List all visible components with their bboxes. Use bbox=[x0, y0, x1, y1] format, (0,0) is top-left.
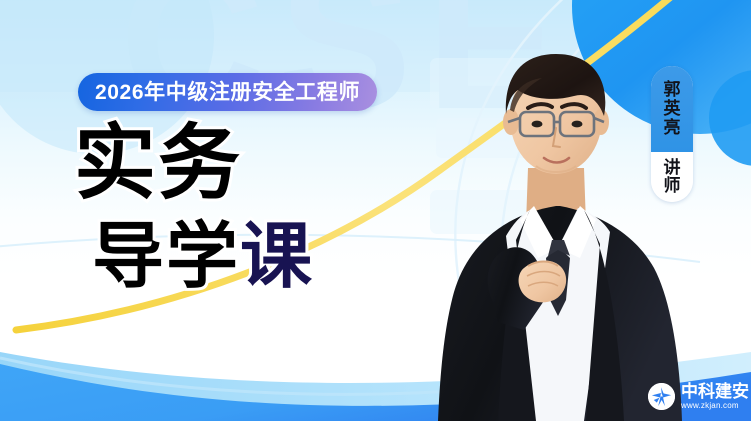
instructor-badge: 郭 英 亮 讲 师 bbox=[651, 66, 693, 202]
instructor-role-char-1: 讲 bbox=[664, 159, 681, 177]
brand-url: www.zkjan.com bbox=[681, 402, 749, 410]
instructor-photo bbox=[432, 0, 692, 421]
course-badge-label: 2026年中级注册安全工程师 bbox=[95, 82, 360, 103]
instructor-photo-svg bbox=[432, 0, 692, 421]
course-badge: 2026年中级注册安全工程师 bbox=[78, 73, 377, 111]
instructor-name-char-2: 英 bbox=[664, 100, 681, 118]
instructor-name-char-1: 郭 bbox=[664, 81, 681, 99]
instructor-name-char-3: 亮 bbox=[664, 119, 681, 137]
headline-line-2-part-1: 导学 bbox=[92, 217, 240, 297]
headline-block: 实务 导学课 bbox=[74, 123, 314, 293]
course-poster: CSE bbox=[0, 0, 751, 421]
instructor-role: 讲 师 bbox=[651, 152, 693, 202]
zkjan-mark-svg bbox=[648, 383, 675, 410]
headline-line-2-part-2: 课 bbox=[240, 217, 314, 297]
instructor-name: 郭 英 亮 bbox=[651, 66, 693, 152]
brand-name: 中科建安 bbox=[681, 383, 749, 400]
brand-logo-text: 中科建安 www.zkjan.com bbox=[681, 383, 749, 410]
hand bbox=[519, 261, 567, 303]
instructor-role-char-2: 师 bbox=[664, 177, 681, 195]
brand-logo: 中科建安 www.zkjan.com bbox=[646, 379, 751, 413]
headline-line-1: 实务 bbox=[74, 123, 314, 205]
headline-line-2: 导学课 bbox=[92, 221, 314, 293]
zkjan-circle-mark-icon bbox=[648, 383, 675, 410]
